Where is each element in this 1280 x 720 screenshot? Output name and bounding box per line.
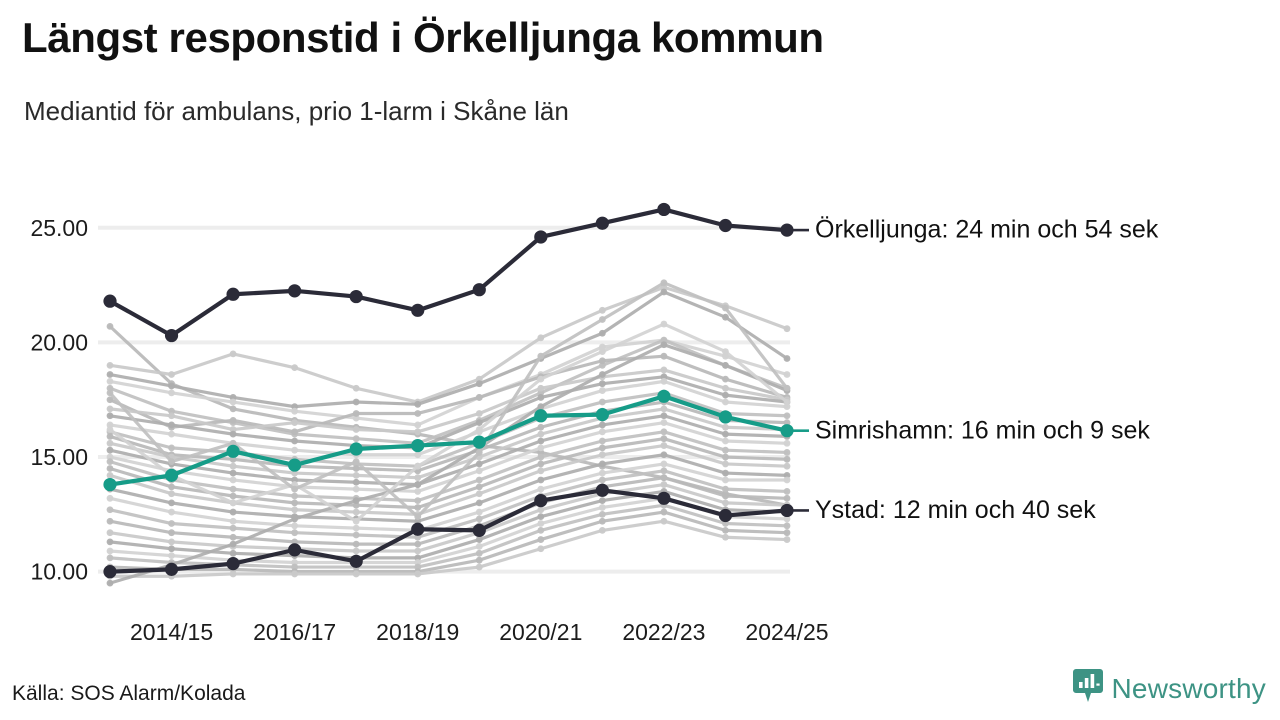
highlighted-series-point <box>534 409 547 422</box>
highlighted-series-point <box>411 439 424 452</box>
context-series-point <box>414 463 421 470</box>
highlighted-series-point <box>226 557 239 570</box>
context-series-point <box>722 305 729 312</box>
context-series-point <box>353 497 360 504</box>
page-title: Längst responstid i Örkelljunga kommun <box>22 14 1202 61</box>
context-series-point <box>107 465 114 472</box>
context-series-point <box>537 536 544 543</box>
context-series-point <box>414 401 421 408</box>
context-series-point <box>784 355 791 362</box>
context-series-point <box>107 412 114 419</box>
context-series-point <box>476 380 483 387</box>
context-series-point <box>476 410 483 417</box>
context-series-point <box>353 385 360 392</box>
context-series-point <box>353 541 360 548</box>
context-series-point <box>291 522 298 529</box>
context-series-point <box>599 444 606 451</box>
page-subtitle: Mediantid för ambulans, prio 1-larm i Sk… <box>24 96 569 127</box>
context-series-point <box>722 477 729 484</box>
context-series-point <box>291 506 298 513</box>
context-series-point <box>599 371 606 378</box>
context-series-point <box>537 513 544 520</box>
context-series-point <box>168 552 175 559</box>
context-series-point <box>722 385 729 392</box>
context-series-point <box>168 458 175 465</box>
context-series-point <box>599 422 606 429</box>
context-series-point <box>722 392 729 399</box>
context-series-point <box>476 394 483 401</box>
context-series-point <box>476 509 483 516</box>
context-series-point <box>722 376 729 383</box>
context-series-point <box>722 314 729 321</box>
context-series-point <box>537 506 544 513</box>
context-series-point <box>661 442 668 449</box>
context-series-point <box>599 477 606 484</box>
context-series-point <box>537 461 544 468</box>
context-series-point <box>537 394 544 401</box>
context-series-point <box>107 580 114 587</box>
context-series-point <box>661 461 668 468</box>
context-series-point <box>414 481 421 488</box>
context-series-point <box>784 488 791 495</box>
context-series-point <box>230 525 237 532</box>
context-series-point <box>168 431 175 438</box>
context-series-point <box>537 353 544 360</box>
highlighted-series-point <box>165 329 178 342</box>
context-series-point <box>291 529 298 536</box>
highlighted-series-point <box>657 203 670 216</box>
context-series-point <box>168 483 175 490</box>
context-series-point <box>107 529 114 536</box>
context-series-point <box>168 490 175 497</box>
highlighted-series-point <box>288 543 301 556</box>
context-series-point <box>353 548 360 555</box>
highlighted-series-point <box>780 504 793 517</box>
context-series-point <box>107 378 114 385</box>
x-axis-tick-label: 2018/19 <box>376 619 459 645</box>
context-series-point <box>353 399 360 406</box>
context-series-point <box>291 493 298 500</box>
context-series-point <box>722 431 729 438</box>
context-series-point <box>230 350 237 357</box>
context-series-point <box>722 362 729 369</box>
context-series-point <box>414 410 421 417</box>
context-series-point <box>107 371 114 378</box>
context-series-point <box>784 536 791 543</box>
context-series-point <box>291 438 298 445</box>
highlighted-series-point <box>165 563 178 576</box>
brand-logo: Newsworthy <box>1073 669 1266 708</box>
context-series-point <box>661 321 668 328</box>
series-annotation-label: Örkelljunga: 24 min och 54 sek <box>815 216 1159 244</box>
context-series-point <box>599 348 606 355</box>
context-series-point <box>661 518 668 525</box>
context-series-point <box>107 447 114 454</box>
line-chart: 10.0015.0020.0025.00 2014/152016/172018/… <box>0 150 1280 650</box>
context-series-point <box>661 378 668 385</box>
context-series-point <box>476 557 483 564</box>
context-series-point <box>168 529 175 536</box>
context-series-point <box>661 428 668 435</box>
context-series-point <box>168 538 175 545</box>
highlighted-series-point <box>596 484 609 497</box>
context-series-point <box>476 543 483 550</box>
highlighted-series-point <box>350 290 363 303</box>
context-series-point <box>414 548 421 555</box>
context-series-point <box>414 474 421 481</box>
x-axis-tick-label: 2020/21 <box>499 619 582 645</box>
context-series-point <box>291 571 298 578</box>
context-series-point <box>291 447 298 454</box>
context-series-point <box>353 458 360 465</box>
context-series-point <box>168 444 175 451</box>
context-series-point <box>291 499 298 506</box>
context-series-point <box>168 412 175 419</box>
context-series-point <box>599 428 606 435</box>
context-series-point <box>414 571 421 578</box>
context-series-point <box>599 399 606 406</box>
context-series-point <box>353 532 360 539</box>
context-series-point <box>168 499 175 506</box>
context-series-point <box>537 477 544 484</box>
context-series-point <box>107 506 114 513</box>
context-series-point <box>599 387 606 394</box>
context-series-point <box>722 470 729 477</box>
context-series-point <box>476 483 483 490</box>
y-axis-tick-labels: 10.0015.0020.0025.00 <box>30 215 88 585</box>
context-series-point <box>661 467 668 474</box>
context-series-point <box>599 470 606 477</box>
highlighted-series-point <box>103 295 116 308</box>
series-annotation-label: Simrishamn: 16 min och 9 sek <box>815 416 1150 444</box>
context-series-point <box>537 467 544 474</box>
context-series-point <box>353 518 360 525</box>
context-series-point <box>230 571 237 578</box>
context-series-point <box>661 341 668 348</box>
context-series-point <box>722 527 729 534</box>
context-series-point <box>722 493 729 500</box>
context-series-point <box>168 545 175 552</box>
context-series-point <box>168 422 175 429</box>
highlighted-series-point <box>534 230 547 243</box>
context-series-point <box>784 522 791 529</box>
context-series-point <box>107 548 114 555</box>
context-series-point <box>537 385 544 392</box>
context-series-point <box>476 564 483 571</box>
context-series-point <box>414 504 421 511</box>
context-series-point <box>476 536 483 543</box>
context-series-point <box>353 525 360 532</box>
context-series-point <box>291 419 298 426</box>
context-series-point <box>537 334 544 341</box>
context-series-point <box>476 499 483 506</box>
context-series-point <box>599 497 606 504</box>
context-series-point <box>107 433 114 440</box>
context-series-point <box>537 431 544 438</box>
context-series-point <box>661 367 668 374</box>
highlighted-series-point <box>350 555 363 568</box>
context-series-point <box>353 410 360 417</box>
context-series-point <box>353 435 360 442</box>
context-series-point <box>599 357 606 364</box>
highlighted-series-point <box>596 217 609 230</box>
context-series-point <box>107 406 114 413</box>
context-series-point <box>107 426 114 433</box>
context-series-point <box>784 440 791 447</box>
context-series-point <box>784 399 791 406</box>
context-series-point <box>537 376 544 383</box>
highlighted-series-point <box>534 494 547 507</box>
context-series-point <box>599 307 606 314</box>
context-series-point <box>537 520 544 527</box>
context-series-point <box>476 419 483 426</box>
context-series-point <box>230 431 237 438</box>
chart-page: Längst responstid i Örkelljunga kommun M… <box>0 0 1280 720</box>
highlighted-series-point <box>226 288 239 301</box>
highlighted-series-point <box>288 458 301 471</box>
context-series-point <box>599 316 606 323</box>
newsworthy-pin-barchart-logo-icon <box>1073 669 1103 708</box>
context-series-point <box>230 463 237 470</box>
context-series-point <box>107 440 114 447</box>
context-series-point <box>722 438 729 445</box>
context-series-point <box>661 353 668 360</box>
context-series-point <box>722 454 729 461</box>
context-series-point <box>661 412 668 419</box>
highlighted-series-point <box>657 390 670 403</box>
context-series-point <box>168 509 175 516</box>
context-series-point <box>476 550 483 557</box>
context-series-point <box>168 383 175 390</box>
context-series-point <box>537 545 544 552</box>
context-series-point <box>599 511 606 518</box>
context-series-point <box>414 428 421 435</box>
highlighted-series-point <box>473 524 486 537</box>
context-series-point <box>291 364 298 371</box>
context-series-point <box>230 534 237 541</box>
context-series-point <box>661 406 668 413</box>
context-series-point <box>537 527 544 534</box>
context-series-point <box>230 509 237 516</box>
y-axis-tick-label: 10.00 <box>30 559 88 585</box>
context-series-point <box>414 541 421 548</box>
context-series-point <box>476 426 483 433</box>
context-series-point <box>476 461 483 468</box>
context-series-point <box>353 479 360 486</box>
context-series-point <box>784 477 791 484</box>
context-series-point <box>537 444 544 451</box>
context-series-point <box>661 435 668 442</box>
context-series-point <box>599 461 606 468</box>
context-series-point <box>661 451 668 458</box>
context-series-point <box>784 385 791 392</box>
context-series-point <box>722 399 729 406</box>
highlighted-series-point <box>719 509 732 522</box>
context-series-point <box>476 467 483 474</box>
context-series-point <box>784 325 791 332</box>
context-series-point <box>722 499 729 506</box>
y-axis-tick-label: 25.00 <box>30 215 88 241</box>
highlighted-series-point <box>473 436 486 449</box>
x-axis-tick-label: 2022/23 <box>622 619 705 645</box>
context-series-point <box>661 509 668 516</box>
context-series-point <box>722 447 729 454</box>
context-series-line <box>110 491 787 557</box>
source-note: Källa: SOS Alarm/Kolada <box>12 682 245 706</box>
highlighted-series-point <box>103 478 116 491</box>
context-series-point <box>168 371 175 378</box>
context-series-point <box>784 412 791 419</box>
context-series-point <box>107 472 114 479</box>
context-series-point <box>230 493 237 500</box>
context-series-point <box>107 323 114 330</box>
context-series-point <box>230 417 237 424</box>
context-series-point <box>661 419 668 426</box>
context-series-point <box>107 458 114 465</box>
context-series-point <box>722 534 729 541</box>
context-series-point <box>107 389 114 396</box>
context-series-point <box>230 486 237 493</box>
context-series-point <box>230 406 237 413</box>
context-series-point <box>722 424 729 431</box>
series-annotations: Örkelljunga: 24 min och 54 sekSimrishamn… <box>793 216 1159 524</box>
brand-name: Newsworthy <box>1112 673 1266 705</box>
context-series-point <box>476 477 483 484</box>
series-annotation-label: Ystad: 12 min och 40 sek <box>815 496 1096 524</box>
context-series-point <box>722 461 729 468</box>
context-series-point <box>476 490 483 497</box>
context-series-point <box>107 518 114 525</box>
context-series-point <box>784 495 791 502</box>
context-series-point <box>107 495 114 502</box>
context-series-point <box>784 371 791 378</box>
context-series-point <box>784 463 791 470</box>
context-series-point <box>107 362 114 369</box>
context-series-point <box>230 499 237 506</box>
context-series-point <box>230 550 237 557</box>
context-series-point <box>476 516 483 523</box>
context-series-point <box>537 424 544 431</box>
context-series-point <box>168 389 175 396</box>
x-axis-tick-label: 2024/25 <box>745 619 828 645</box>
context-series-point <box>291 486 298 493</box>
context-series-point <box>784 449 791 456</box>
highlighted-series-point <box>288 284 301 297</box>
context-series-point <box>537 454 544 461</box>
context-series-point <box>353 426 360 433</box>
context-series-point <box>291 408 298 415</box>
context-series-point <box>230 477 237 484</box>
highlighted-series-point <box>719 219 732 232</box>
y-axis-tick-label: 20.00 <box>30 329 88 355</box>
context-series-point <box>599 438 606 445</box>
highlighted-series-point <box>165 469 178 482</box>
context-series-point <box>784 456 791 463</box>
context-series-point <box>230 399 237 406</box>
context-series-point <box>599 380 606 387</box>
context-series-point <box>661 481 668 488</box>
context-series-point <box>353 465 360 472</box>
context-series-group <box>107 279 791 586</box>
x-axis-tick-label: 2016/17 <box>253 619 336 645</box>
context-series-point <box>414 513 421 520</box>
context-series-point <box>291 516 298 523</box>
highlighted-series-point <box>411 304 424 317</box>
highlighted-series-point <box>473 283 486 296</box>
context-series-point <box>661 279 668 286</box>
context-series-point <box>599 527 606 534</box>
context-series-point <box>107 555 114 562</box>
context-series-point <box>107 538 114 545</box>
y-axis-tick-label: 15.00 <box>30 444 88 470</box>
context-series-point <box>353 571 360 578</box>
context-series-point <box>599 504 606 511</box>
context-series-point <box>414 488 421 495</box>
highlighted-series-point <box>350 442 363 455</box>
context-series-point <box>599 451 606 458</box>
highlighted-series-point <box>596 408 609 421</box>
highlighted-series-point <box>411 523 424 536</box>
x-axis-tick-labels: 2014/152016/172018/192020/212022/232024/… <box>130 619 829 645</box>
context-series-point <box>537 438 544 445</box>
context-series-point <box>537 486 544 493</box>
context-series-point <box>291 428 298 435</box>
highlighted-series-point <box>657 492 670 505</box>
context-series-point <box>414 497 421 504</box>
context-series-point <box>661 474 668 481</box>
context-series-point <box>537 403 544 410</box>
context-series-point <box>599 518 606 525</box>
highlighted-series-point <box>103 565 116 578</box>
x-axis-tick-label: 2014/15 <box>130 619 213 645</box>
context-series-point <box>599 330 606 337</box>
context-series-point <box>722 348 729 355</box>
context-series-point <box>722 486 729 493</box>
context-series-point <box>353 472 360 479</box>
highlighted-series-point <box>719 410 732 423</box>
context-series-point <box>353 509 360 516</box>
context-series-point <box>230 518 237 525</box>
context-series-point <box>661 289 668 296</box>
context-series-point <box>168 520 175 527</box>
context-series-point <box>476 449 483 456</box>
context-series-point <box>414 422 421 429</box>
chart-container: 10.0015.0020.0025.00 2014/152016/172018/… <box>0 150 1280 650</box>
highlighted-series-point <box>780 424 793 437</box>
context-series-point <box>353 486 360 493</box>
highlighted-series-point <box>226 445 239 458</box>
context-series-point <box>230 541 237 548</box>
context-series-point <box>414 451 421 458</box>
context-series-point <box>230 470 237 477</box>
highlighted-series-point <box>780 223 793 236</box>
context-series-point <box>784 529 791 536</box>
